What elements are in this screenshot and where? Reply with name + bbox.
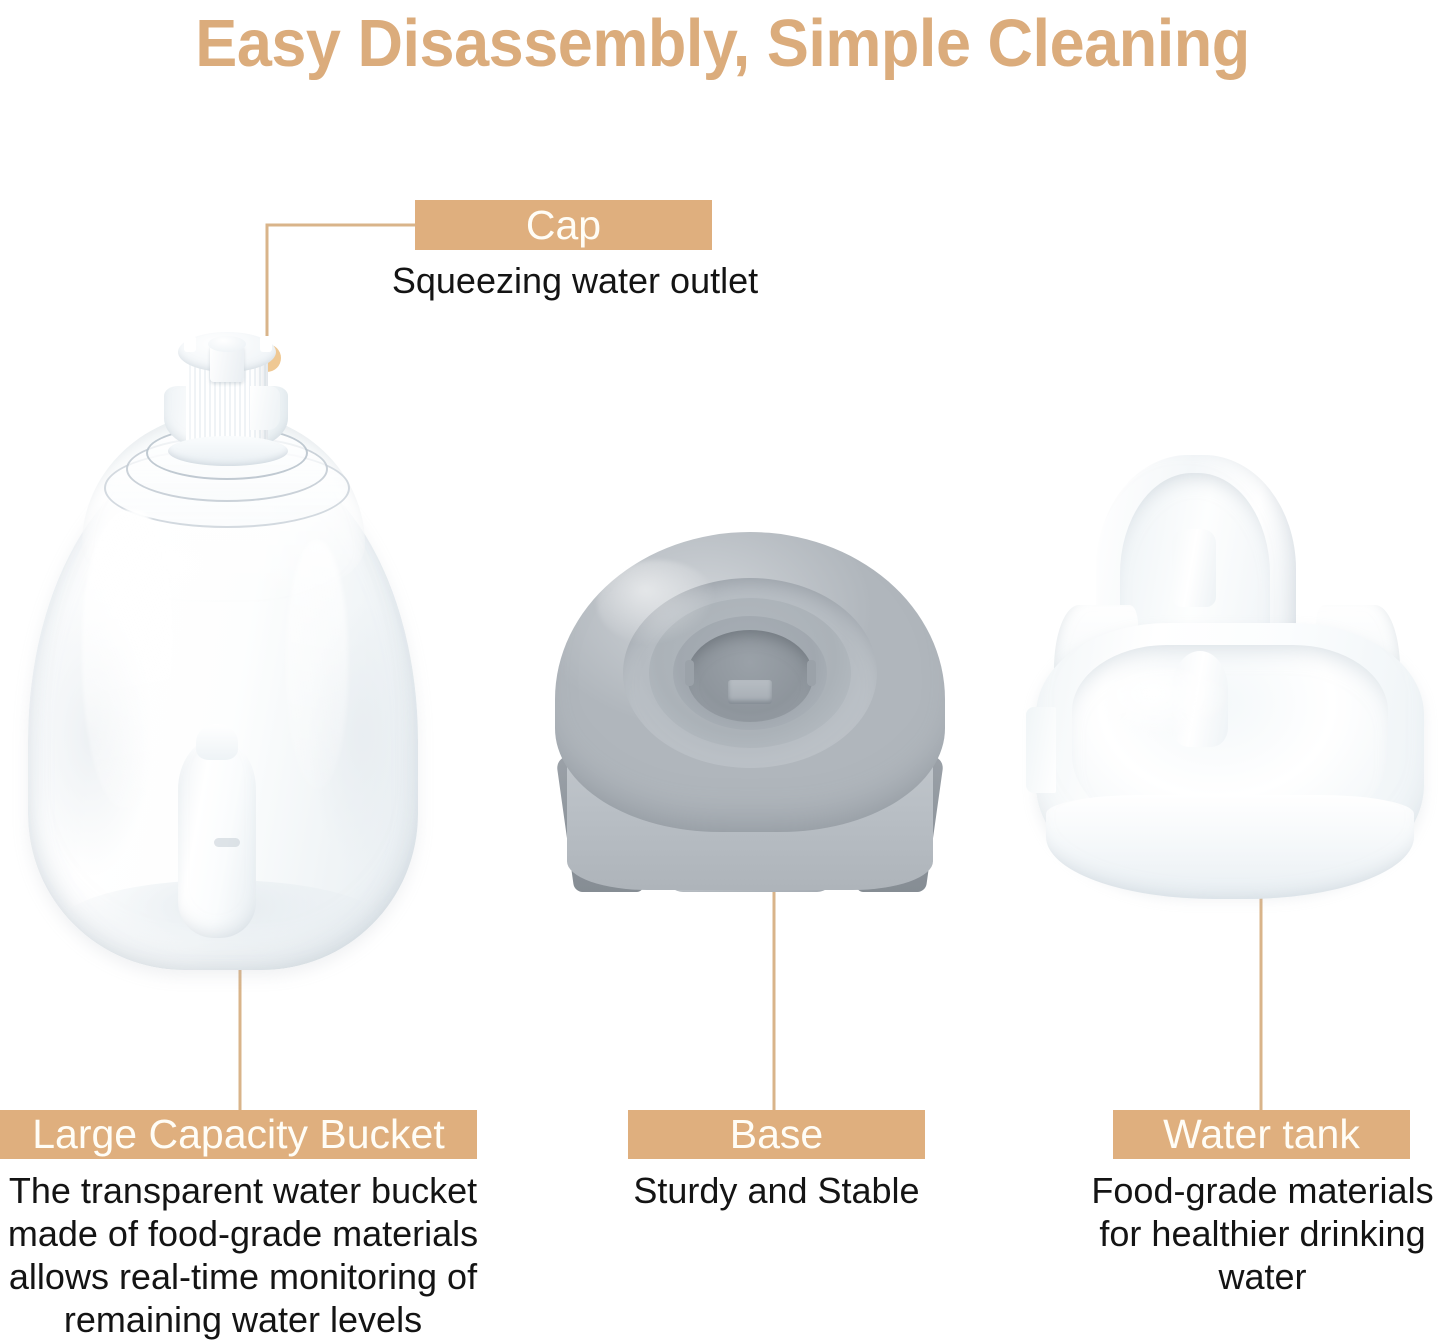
- part-water-tank: [1020, 455, 1440, 945]
- water-tank-highlight: [1102, 669, 1232, 739]
- base-hole-tab: [728, 680, 772, 704]
- water-tank-front-lip: [1046, 795, 1414, 899]
- base-center-hole: [687, 630, 813, 722]
- base-hole-slot-left: [685, 660, 694, 686]
- bucket-valve-marking: [214, 838, 240, 847]
- page-title: Easy Disassembly, Simple Cleaning: [43, 0, 1401, 88]
- cap-collar: [168, 436, 288, 466]
- water-tank-back-nub: [1172, 529, 1216, 607]
- callout-chip-bucket: Large Capacity Bucket: [0, 1110, 477, 1159]
- part-transparent-bucket: [18, 340, 438, 990]
- bucket-highlight-left: [82, 510, 174, 810]
- callout-description-base: Sturdy and Stable: [628, 1169, 925, 1212]
- base-hole-slot-right: [807, 660, 816, 686]
- cap-center-post-top: [208, 336, 246, 352]
- bucket-valve-tip: [196, 724, 238, 760]
- callout-description-bucket: The transparent water bucket made of foo…: [3, 1169, 483, 1341]
- callout-description-water-tank: Food-grade materials for healthier drink…: [1090, 1169, 1435, 1298]
- water-tank-side-tab: [1026, 707, 1056, 793]
- callout-chip-water-tank: Water tank: [1113, 1110, 1410, 1159]
- cap-wing: [250, 386, 280, 430]
- product-infographic: Easy Disassembly, Simple Cleaning: [0, 0, 1445, 1332]
- base-highlight: [597, 560, 717, 646]
- callout-chip-cap: Cap: [415, 200, 712, 250]
- cap-notch-right: [260, 336, 272, 352]
- callout-description-cap: Squeezing water outlet: [375, 259, 775, 302]
- bucket-highlight-right: [286, 540, 348, 790]
- part-gray-base: [545, 520, 955, 920]
- callout-chip-base: Base: [628, 1110, 925, 1159]
- cap-notch-left: [184, 336, 196, 352]
